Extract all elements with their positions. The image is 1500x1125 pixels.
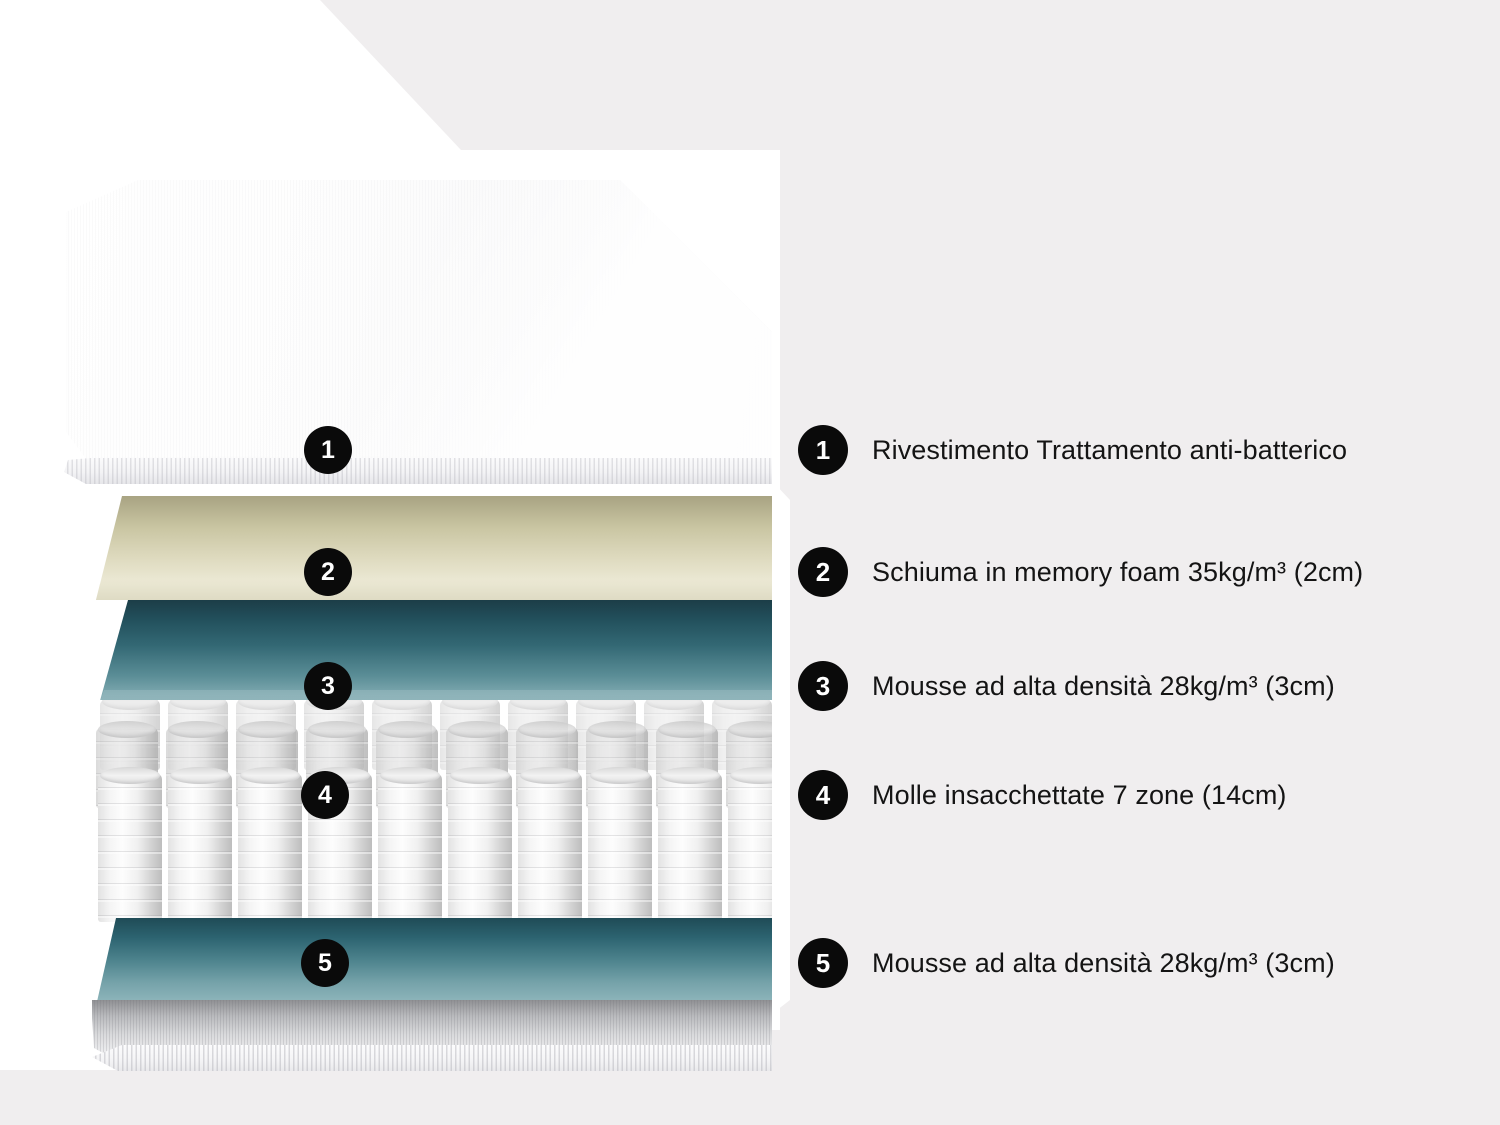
spring-row-front: [96, 774, 772, 922]
spring-coil: [518, 774, 582, 922]
spring-coil: [588, 774, 652, 922]
spring-coil: [658, 774, 722, 922]
layer-5-high-density-foam: [96, 918, 772, 1006]
legend-item-4[interactable]: 4 Molle insacchettate 7 zone (14cm): [798, 770, 1287, 820]
legend-badge-4: 4: [798, 770, 848, 820]
layer-3-high-density-foam: [98, 600, 772, 708]
legend-badge-5: 5: [798, 938, 848, 988]
layer-2-memory-foam: [96, 496, 772, 600]
legend-label-5: Mousse ad alta densità 28kg/m³ (3cm): [872, 948, 1335, 979]
legend-item-3[interactable]: 3 Mousse ad alta densità 28kg/m³ (3cm): [798, 661, 1335, 711]
legend-badge-2: 2: [798, 547, 848, 597]
image-badge-3: 3: [304, 662, 352, 710]
legend-label-2: Schiuma in memory foam 35kg/m³ (2cm): [872, 557, 1363, 588]
mattress-illustration: 1 2 3 4 5: [0, 0, 772, 1125]
cover-piping-edge: [64, 458, 772, 484]
memory-foam-bottom-edge: [96, 584, 772, 600]
spring-coil: [728, 774, 772, 922]
spring-coil: [98, 774, 162, 922]
base-piping-edge: [92, 1045, 772, 1071]
legend-list: 1 Rivestimento Trattamento anti-batteric…: [798, 0, 1500, 1125]
legend-badge-3: 3: [798, 661, 848, 711]
spring-coil: [378, 774, 442, 922]
spring-coil: [448, 774, 512, 922]
spring-coil: [168, 774, 232, 922]
image-badge-5: 5: [301, 939, 349, 987]
legend-label-4: Molle insacchettate 7 zone (14cm): [872, 780, 1287, 811]
legend-item-2[interactable]: 2 Schiuma in memory foam 35kg/m³ (2cm): [798, 547, 1363, 597]
legend-label-3: Mousse ad alta densità 28kg/m³ (3cm): [872, 671, 1335, 702]
legend-badge-1: 1: [798, 425, 848, 475]
legend-item-1[interactable]: 1 Rivestimento Trattamento anti-batteric…: [798, 425, 1347, 475]
bottom-foam-face: [96, 918, 772, 1006]
image-badge-1: 1: [304, 426, 352, 474]
legend-item-5[interactable]: 5 Mousse ad alta densità 28kg/m³ (3cm): [798, 938, 1335, 988]
image-badge-2: 2: [304, 548, 352, 596]
diagram-canvas: 1 2 3 4 5 1 Rivestimento Trattamento ant…: [0, 0, 1500, 1125]
layer-4-pocket-springs: [96, 700, 772, 922]
image-badge-4: 4: [301, 771, 349, 819]
spring-coil: [238, 774, 302, 922]
layer-1-cover: [60, 172, 772, 502]
cover-top-face: [60, 172, 772, 472]
legend-label-1: Rivestimento Trattamento anti-batterico: [872, 435, 1347, 466]
